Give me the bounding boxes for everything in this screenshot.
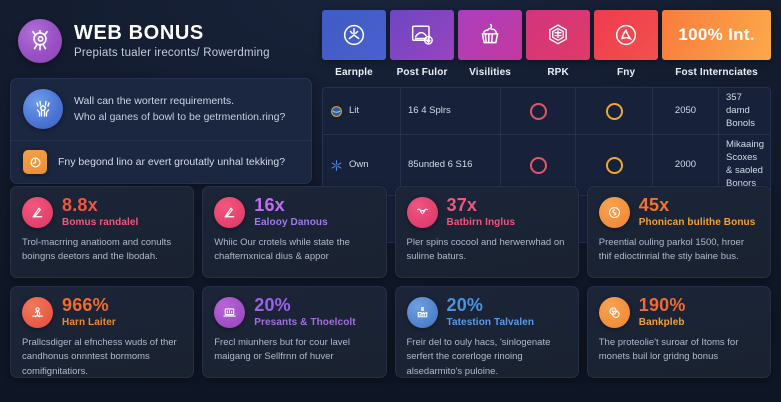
stat-card[interactable]: 37x Batbirn Inglus Pler spins cocool and… — [395, 186, 579, 278]
stat-card-value: 966% — [62, 296, 116, 314]
stat-card-value: 20% — [254, 296, 355, 314]
tile-label: Fny — [594, 67, 658, 78]
stat-card[interactable]: 20% Presants & Thoelcolt Frecl miunhers … — [202, 286, 386, 378]
tile-example[interactable]: Earnple — [322, 10, 386, 78]
page-title: WEB BONUS — [74, 23, 270, 44]
rocket-circle-icon — [22, 197, 53, 228]
red-ring-icon — [530, 103, 547, 120]
stat-card-label: Bankpleb — [639, 317, 686, 328]
chart-download-icon — [408, 21, 436, 49]
coin-circle-icon — [599, 197, 630, 228]
stat-card-header: 37x Batbirn Inglus — [407, 196, 567, 228]
stat-card-value: 8.8x — [62, 196, 138, 214]
table-cell-number: 2050 — [653, 88, 719, 134]
stat-card-label: Phonican bulithe Bonus — [639, 217, 756, 228]
question-secondary-row[interactable]: Fny begond lino ar evert groutatly unhal… — [11, 141, 311, 183]
page-subtitle: Prepiats tualer ireconts/ Rowerdming — [74, 47, 270, 59]
tile-strip: Earnple Post Fulor — [322, 10, 771, 78]
question-primary-text: Wall can the worterr requirements. Who a… — [74, 93, 285, 126]
compass-circle-icon — [340, 21, 368, 49]
rocket-circle-icon — [214, 197, 245, 228]
stat-card-description: Pler spins cocool and herwerwhad on suli… — [407, 236, 567, 265]
tile-post-fulor[interactable]: Post Fulor — [390, 10, 454, 78]
table-cell-flag-red — [501, 88, 576, 134]
stat-card-label: Ealooy Danous — [254, 217, 328, 228]
stat-card-description: Whiic Our crotels while state the chafte… — [214, 236, 374, 265]
stat-card[interactable]: 16x Ealooy Danous Whiic Our crotels whil… — [202, 186, 386, 278]
stat-card-description: Prallcsdiger al efnchess wuds of ther ca… — [22, 336, 182, 378]
table-cell-detail: 16 4 Splrs — [401, 88, 501, 134]
tile-percentage: 100% Int. — [678, 25, 754, 45]
tile-label: Visilities — [458, 67, 522, 78]
amber-ring-icon — [606, 103, 623, 120]
red-ring-icon — [530, 157, 547, 174]
stat-card-value: 190% — [639, 296, 686, 314]
tile-box — [458, 10, 522, 60]
snowflake-icon — [330, 159, 343, 172]
tile-label: RPK — [526, 67, 590, 78]
table-row[interactable]: Lit 16 4 Splrs 2050 357 damd Bonols — [323, 88, 770, 135]
stat-card-label: Presants & Thoelcolt — [254, 317, 355, 328]
stat-card-label: Bomus randalel — [62, 217, 138, 228]
rider-circle-icon — [22, 297, 53, 328]
bull-circle-icon — [407, 197, 438, 228]
tile-box — [322, 10, 386, 60]
stat-card-description: Freir del to ouly hacs, 'sinlogenate ser… — [407, 336, 567, 378]
question-line-1: Wall can the worterr requirements. — [74, 93, 285, 109]
achievement-hands-icon — [23, 89, 63, 129]
mascot-badge-icon — [18, 19, 62, 63]
cupcake-icon — [476, 21, 504, 49]
tile-fost-internciates[interactable]: 100% Int. Fost Internciates — [662, 10, 771, 78]
top-left-column: WEB BONUS Prepiats tualer ireconts/ Rowe… — [10, 10, 312, 184]
question-primary-row[interactable]: Wall can the worterr requirements. Who a… — [11, 79, 311, 141]
tile-fny[interactable]: Fny — [594, 10, 658, 78]
stat-card[interactable]: 966% Harn Laiter Prallcsdiger al efnches… — [10, 286, 194, 378]
tile-label: Fost Internciates — [662, 67, 771, 78]
question-secondary-text: Fny begond lino ar evert groutatly unhal… — [58, 156, 285, 168]
laptop-circle-icon — [214, 297, 245, 328]
stat-card[interactable]: 190% Bankpleb The proteolie't suroar of … — [587, 286, 771, 378]
globe-icon — [330, 105, 343, 118]
table-cell-flag-amber — [576, 88, 653, 134]
tile-label: Post Fulor — [390, 67, 454, 78]
stat-card-value: 20% — [447, 296, 535, 314]
coin-stack-circle-icon — [599, 297, 630, 328]
factory-circle-icon — [407, 297, 438, 328]
stat-card[interactable]: 8.8x Bomus randalel Trol-macrring anatio… — [10, 186, 194, 278]
hexagon-badge-icon — [544, 21, 572, 49]
amber-ring-icon — [606, 157, 623, 174]
stat-card-header: 20% Presants & Thoelcolt — [214, 296, 374, 328]
brand-header: WEB BONUS Prepiats tualer ireconts/ Rowe… — [10, 10, 312, 72]
stat-card-description: Trol-macrring anatioom and conults boing… — [22, 236, 182, 265]
stat-card-header: 20% Tatestion Talvalen — [407, 296, 567, 328]
tile-box — [390, 10, 454, 60]
stat-card-header: 966% Harn Laiter — [22, 296, 182, 328]
tile-visilities[interactable]: Visilities — [458, 10, 522, 78]
table-cell-name-text: Lit — [349, 105, 359, 118]
table-cell-name: Lit — [323, 88, 401, 134]
table-cell-note: 357 damd Bonols — [719, 88, 770, 134]
tile-box — [594, 10, 658, 60]
tile-box: 100% Int. — [662, 10, 771, 60]
stat-card-description: The proteolie't suroar of Itoms for mone… — [599, 336, 759, 365]
tile-rpk[interactable]: RPK — [526, 10, 590, 78]
stat-card[interactable]: 45x Phonican bulithe Bonus Preential oul… — [587, 186, 771, 278]
stat-card-value: 16x — [254, 196, 328, 214]
stat-card-label: Tatestion Talvalen — [447, 317, 535, 328]
stat-card-header: 8.8x Bomus randalel — [22, 196, 182, 228]
stat-card-label: Batbirn Inglus — [447, 217, 516, 228]
stat-card-header: 190% Bankpleb — [599, 296, 759, 328]
stat-card-header: 45x Phonican bulithe Bonus — [599, 196, 759, 228]
question-line-2: Who al ganes of bowl to be getrmention.r… — [74, 109, 285, 125]
stat-card-value: 37x — [447, 196, 516, 214]
stat-card-description: Frecl miunhers but for cour lavel maigan… — [214, 336, 374, 365]
top-zone: WEB BONUS Prepiats tualer ireconts/ Rowe… — [10, 10, 771, 178]
refresh-circle-icon — [23, 150, 47, 174]
flame-circle-icon — [612, 21, 640, 49]
dashboard-root: WEB BONUS Prepiats tualer ireconts/ Rowe… — [0, 0, 781, 402]
stat-card-description: Preential ouling parkol 1500, hroer thif… — [599, 236, 759, 265]
stat-card-value: 45x — [639, 196, 756, 214]
tile-label: Earnple — [322, 67, 386, 78]
question-panel: Wall can the worterr requirements. Who a… — [10, 78, 312, 184]
stat-card-header: 16x Ealooy Danous — [214, 196, 374, 228]
table-cell-name-text: Own — [349, 159, 369, 172]
tile-box — [526, 10, 590, 60]
stat-card-label: Harn Laiter — [62, 317, 116, 328]
stat-card[interactable]: 20% Tatestion Talvalen Freir del to ouly… — [395, 286, 579, 378]
